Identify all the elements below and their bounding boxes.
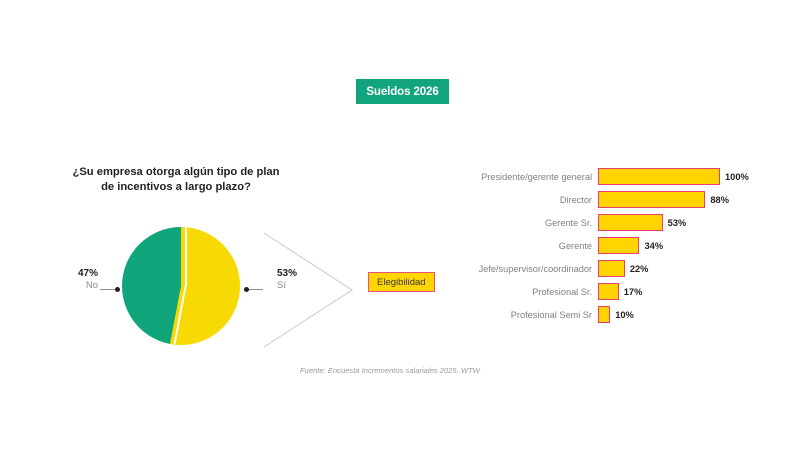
bar-row: Profesional Sr.17% [446, 283, 776, 300]
bar-track [598, 191, 720, 208]
pie-chart [117, 227, 242, 352]
title-badge: Sueldos 2026 [356, 79, 449, 104]
title-badge-label: Sueldos 2026 [366, 86, 438, 98]
bar-row: Director88% [446, 191, 776, 208]
bar-fill [598, 306, 610, 323]
elegibilidad-tag: Elegibilidad [368, 272, 435, 292]
bar-row: Jefe/supervisor/coordinador22% [446, 260, 776, 277]
question-line-2: de incentivos a largo plazo? [42, 180, 310, 195]
elegibilidad-tag-label: Elegibilidad [377, 277, 426, 288]
bar-category-label: Jefe/supervisor/coordinador [446, 264, 598, 274]
question-text: ¿Su empresa otorga algún tipo de plan de… [42, 165, 310, 194]
eligibility-bar-chart: Presidente/gerente general100%Director88… [446, 168, 776, 329]
bar-value-label: 100% [720, 172, 749, 182]
bar-track [598, 260, 720, 277]
bar-row: Gerente Sr.53% [446, 214, 776, 231]
bar-row: Presidente/gerente general100% [446, 168, 776, 185]
bar-category-label: Gerente Sr. [446, 218, 598, 228]
bar-fill [598, 237, 639, 254]
source-note: Fuente: Encuesta Incrementos salariales … [300, 366, 480, 375]
bar-track [598, 306, 720, 323]
pie-leader-line-right [247, 289, 263, 290]
pie-divider-bottom [174, 286, 187, 344]
chevron-right-icon [262, 231, 354, 349]
pie-leader-dot-left [115, 287, 120, 292]
bar-fill [598, 260, 625, 277]
pie-slices [122, 227, 240, 345]
pie-divider-top [185, 227, 187, 286]
bar-fill [598, 191, 705, 208]
bar-track [598, 283, 720, 300]
bar-row: Profesional Semi Sr10% [446, 306, 776, 323]
pie-callout-no-value: 47% [52, 268, 98, 280]
question-line-1: ¿Su empresa otorga algún tipo de plan [42, 165, 310, 180]
pie-leader-line-left [100, 289, 116, 290]
slide-canvas: Sueldos 2026 ¿Su empresa otorga algún ti… [0, 0, 800, 450]
bar-category-label: Director [446, 195, 598, 205]
pie-leader-dot-right [244, 287, 249, 292]
bar-fill [598, 168, 720, 185]
bar-fill [598, 283, 619, 300]
bar-row: Gerente34% [446, 237, 776, 254]
bar-fill [598, 214, 663, 231]
bar-track [598, 214, 720, 231]
pie-callout-no: 47% No [52, 268, 98, 292]
bar-category-label: Profesional Semi Sr [446, 310, 598, 320]
bar-track [598, 168, 720, 185]
bar-category-label: Presidente/gerente general [446, 172, 598, 182]
bar-category-label: Gerente [446, 241, 598, 251]
pie-callout-no-label: No [52, 280, 98, 292]
bar-track [598, 237, 720, 254]
bar-category-label: Profesional Sr. [446, 287, 598, 297]
